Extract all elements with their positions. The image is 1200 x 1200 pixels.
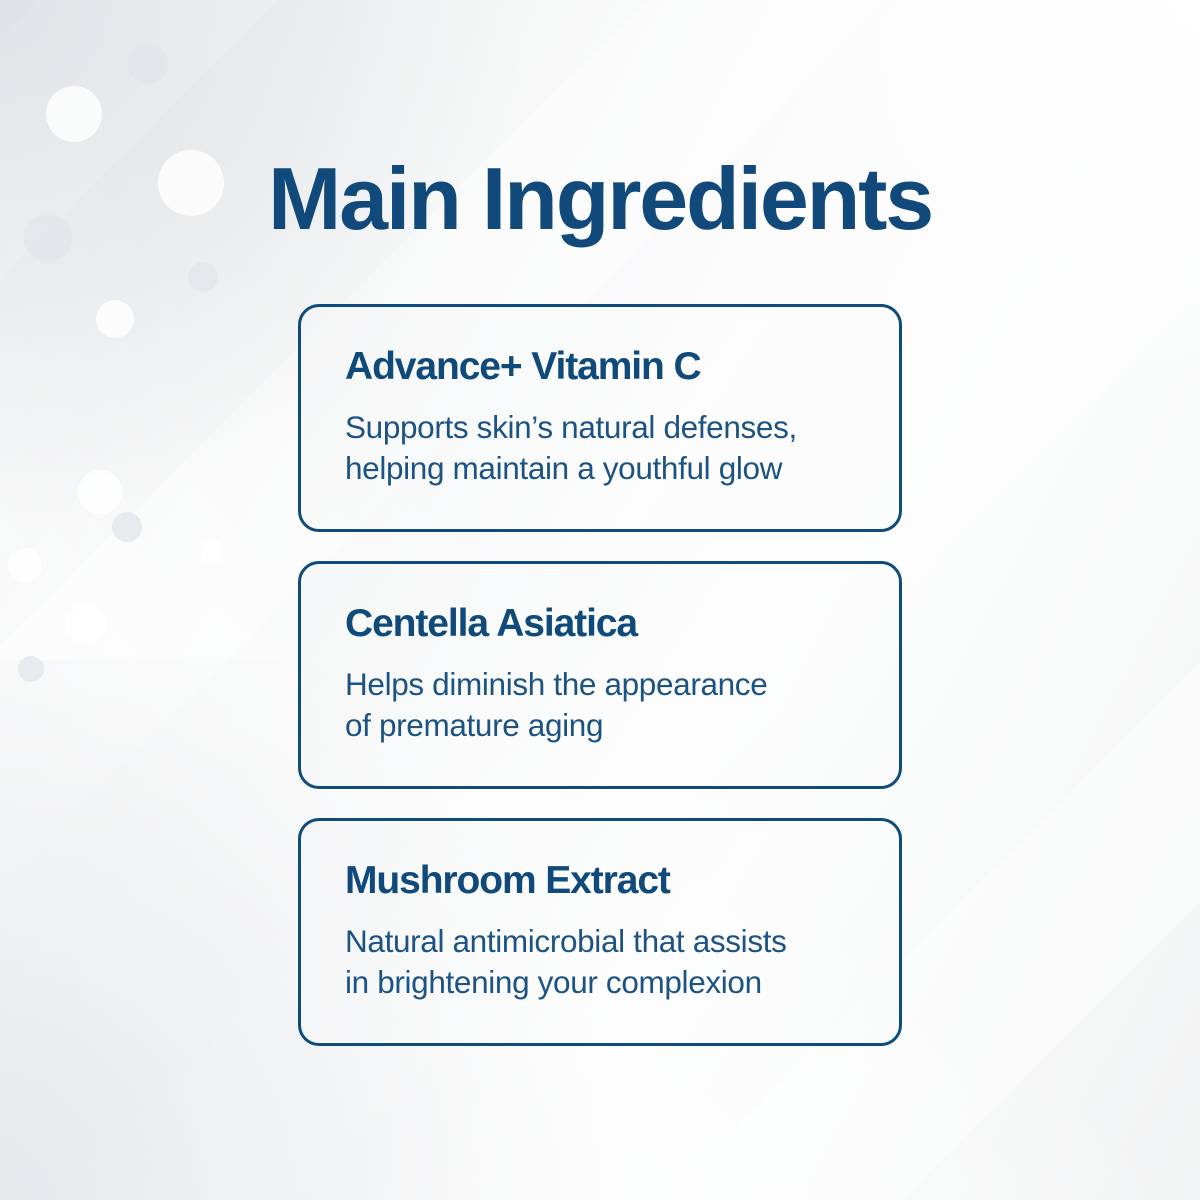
ingredient-card-centella-asiatica[interactable]: Centella Asiatica Helps diminish the app… [298,561,902,789]
ingredient-card-list: Advance+ Vitamin C Supports skin’s natur… [298,304,902,1046]
page-title: Main Ingredients [268,155,932,243]
ingredient-card-description: Natural antimicrobial that assists in br… [345,921,855,1003]
ingredient-card-mushroom-extract[interactable]: Mushroom Extract Natural antimicrobial t… [298,818,902,1046]
ingredient-card-title: Centella Asiatica [345,604,855,643]
ingredient-card-title: Advance+ Vitamin C [345,347,855,386]
ingredients-page: Main Ingredients Advance+ Vitamin C Supp… [0,0,1200,1200]
ingredient-card-vitamin-c[interactable]: Advance+ Vitamin C Supports skin’s natur… [298,304,902,532]
ingredient-card-description: Supports skin’s natural defenses, helpin… [345,407,855,489]
content-area: Main Ingredients Advance+ Vitamin C Supp… [0,0,1200,1200]
ingredient-card-title: Mushroom Extract [345,861,855,900]
ingredient-card-description: Helps diminish the appearance of prematu… [345,664,855,746]
